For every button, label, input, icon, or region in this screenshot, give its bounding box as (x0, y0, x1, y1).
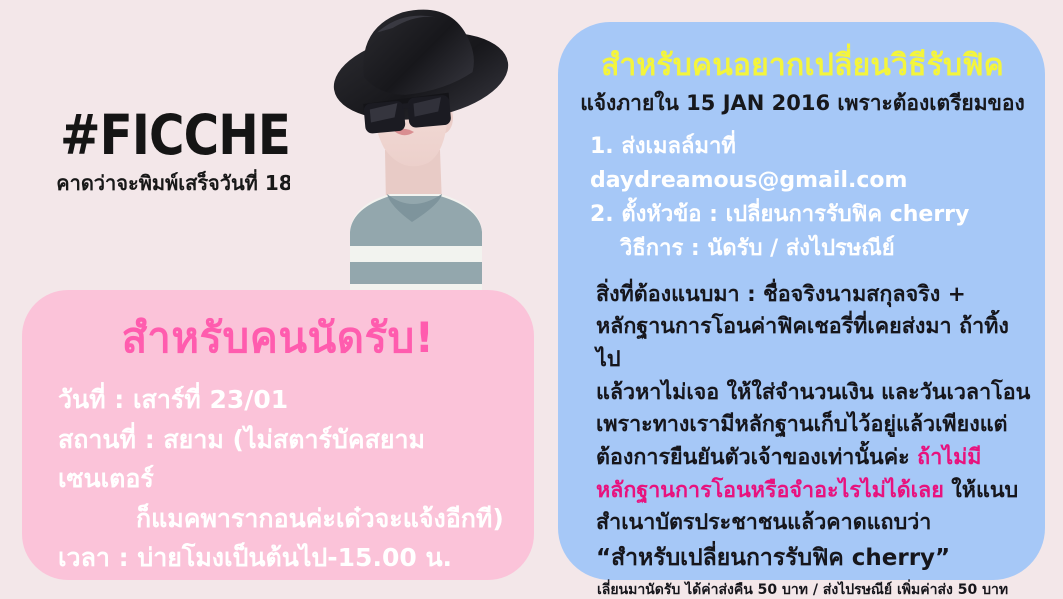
step-item: 2. ตั้งหัวข้อ : เปลี่ยนการรับฟิค cherry (590, 198, 1031, 232)
model-photo (290, 0, 535, 320)
poster-canvas: #FICCHERRY คาดว่าจะพิมพ์เสร็จวันที่ 18/0… (0, 0, 1063, 597)
change-method-body: สิ่งที่ต้องแนบมา : ชื่อจริงนามสกุลจริง +… (574, 279, 1031, 540)
body-line: เพราะทางเรามีหลักฐานเก็บไว้อยู่แล้วเพียง… (596, 409, 1031, 442)
change-method-steps: 1. ส่งเมลล์มาที่ daydreamous@gmail.com 2… (574, 130, 1031, 266)
body-line: แล้วหาไม่เจอ ให้ใส่จำนวนเงิน และวันเวลาโ… (596, 377, 1031, 410)
step-item-sub: วิธีการ : นัดรับ / ส่งไปรษณีย์ (590, 232, 1031, 266)
body-line: สิ่งที่ต้องแนบมา : ชื่อจริงนามสกุลจริง + (596, 279, 1031, 312)
change-method-heading: สำหรับคนอยากเปลี่ยนวิธีรับฟิค (574, 48, 1031, 84)
body-line-highlight: หลักฐานการโอนหรือจำอะไรไม่ได้เลย (596, 478, 944, 503)
pickup-detail-list: วันที่ : เสาร์ที่ 23/01 สถานที่ : สยาม (… (48, 380, 508, 578)
model-photo-illustration (290, 0, 535, 320)
pickup-detail-line: ก็แมคพารากอนค่ะเด๋วจะแจ้งอีกที) (58, 499, 508, 539)
body-line-text: ต้องการยืนยันตัวเจ้าของเท่านั้นค่ะ (596, 445, 917, 470)
pickup-panel-heading: สำหรับคนนัดรับ! (48, 314, 508, 362)
pickup-detail-line: สถานที่ : สยาม (ไม่สตาร์บัคสยามเซนเตอร์ (58, 420, 508, 499)
hashtag-title: #FICCHERRY (60, 108, 324, 163)
body-line: สำเนาบัตรประชาชนแล้วคาดแถบว่า (596, 507, 1031, 540)
body-line: ต้องการยืนยันตัวเจ้าของเท่านั้นค่ะ ถ้าไม… (596, 442, 1031, 475)
pickup-detail-line: เวลา : บ่ายโมงเป็นต้นไป-15.00 น. (58, 538, 508, 578)
email-subject-quote: “สำหรับเปลี่ยนการรับฟิค cherry” (574, 542, 1031, 574)
body-line: หลักฐานการโอนค่าฟิคเชอรี่ที่เคยส่งมา ถ้า… (596, 311, 1031, 376)
shipping-footnote: เลี่ยนมานัดรับ ได้ค่าส่งคืน 50 บาท / ส่ง… (574, 581, 1031, 599)
body-line-highlight: ถ้าไม่มี (917, 445, 981, 470)
change-method-deadline: แจ้งภายใน 15 JAN 2016 เพราะต้องเตรียมของ (574, 91, 1031, 116)
change-method-panel: สำหรับคนอยากเปลี่ยนวิธีรับฟิค แจ้งภายใน … (558, 22, 1045, 580)
pickup-detail-line: วันที่ : เสาร์ที่ 23/01 (58, 380, 508, 420)
pickup-info-panel: สำหรับคนนัดรับ! วันที่ : เสาร์ที่ 23/01 … (22, 290, 534, 580)
step-item: 1. ส่งเมลล์มาที่ daydreamous@gmail.com (590, 130, 1031, 198)
body-line: หลักฐานการโอนหรือจำอะไรไม่ได้เลย ให้แนบ (596, 475, 1031, 508)
body-line-after: ให้แนบ (944, 478, 1018, 503)
